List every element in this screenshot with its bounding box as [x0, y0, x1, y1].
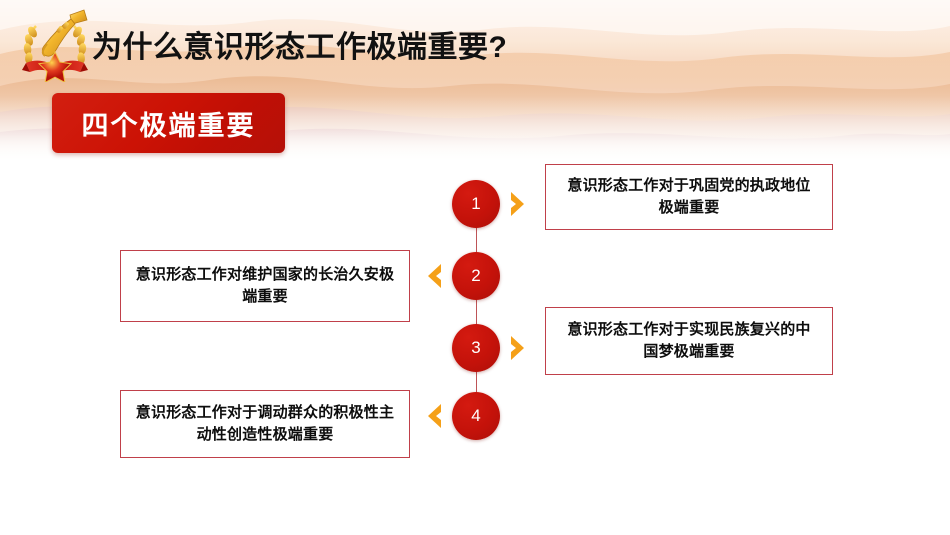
step-number-4: 4 — [471, 406, 480, 426]
step-node-2[interactable]: 2 — [452, 252, 500, 300]
callout-box-1-text: 意识形态工作对于巩固党的执政地位极端重要 — [560, 175, 818, 219]
chevron-right-icon — [509, 191, 531, 217]
step-node-3[interactable]: 3 — [452, 324, 500, 372]
timeline-spine — [476, 204, 477, 416]
chevron-left-icon — [421, 403, 443, 429]
bugle-wheat-star-emblem-icon — [14, 6, 96, 82]
chevron-left-icon — [421, 263, 443, 289]
step-node-1[interactable]: 1 — [452, 180, 500, 228]
section-badge: 四个极端重要 — [52, 93, 285, 153]
callout-box-1[interactable]: 意识形态工作对于巩固党的执政地位极端重要 — [545, 164, 833, 230]
step-node-4[interactable]: 4 — [452, 392, 500, 440]
slide-canvas: 为什么意识形态工作极端重要? 四个极端重要 1 2 3 4 — [0, 0, 950, 535]
callout-box-4[interactable]: 意识形态工作对于调动群众的积极性主动性创造性极端重要 — [120, 390, 410, 458]
step-number-3: 3 — [471, 338, 480, 358]
callout-box-3-text: 意识形态工作对于实现民族复兴的中国梦极端重要 — [560, 319, 818, 363]
section-badge-label: 四个极端重要 — [82, 104, 256, 143]
callout-box-3[interactable]: 意识形态工作对于实现民族复兴的中国梦极端重要 — [545, 307, 833, 375]
page-title: 为什么意识形态工作极端重要? — [92, 22, 507, 66]
chevron-right-icon — [509, 335, 531, 361]
callout-box-2[interactable]: 意识形态工作对维护国家的长治久安极端重要 — [120, 250, 410, 322]
callout-box-4-text: 意识形态工作对于调动群众的积极性主动性创造性极端重要 — [135, 402, 395, 446]
step-number-1: 1 — [471, 194, 480, 214]
step-number-2: 2 — [471, 266, 480, 286]
callout-box-2-text: 意识形态工作对维护国家的长治久安极端重要 — [135, 264, 395, 308]
